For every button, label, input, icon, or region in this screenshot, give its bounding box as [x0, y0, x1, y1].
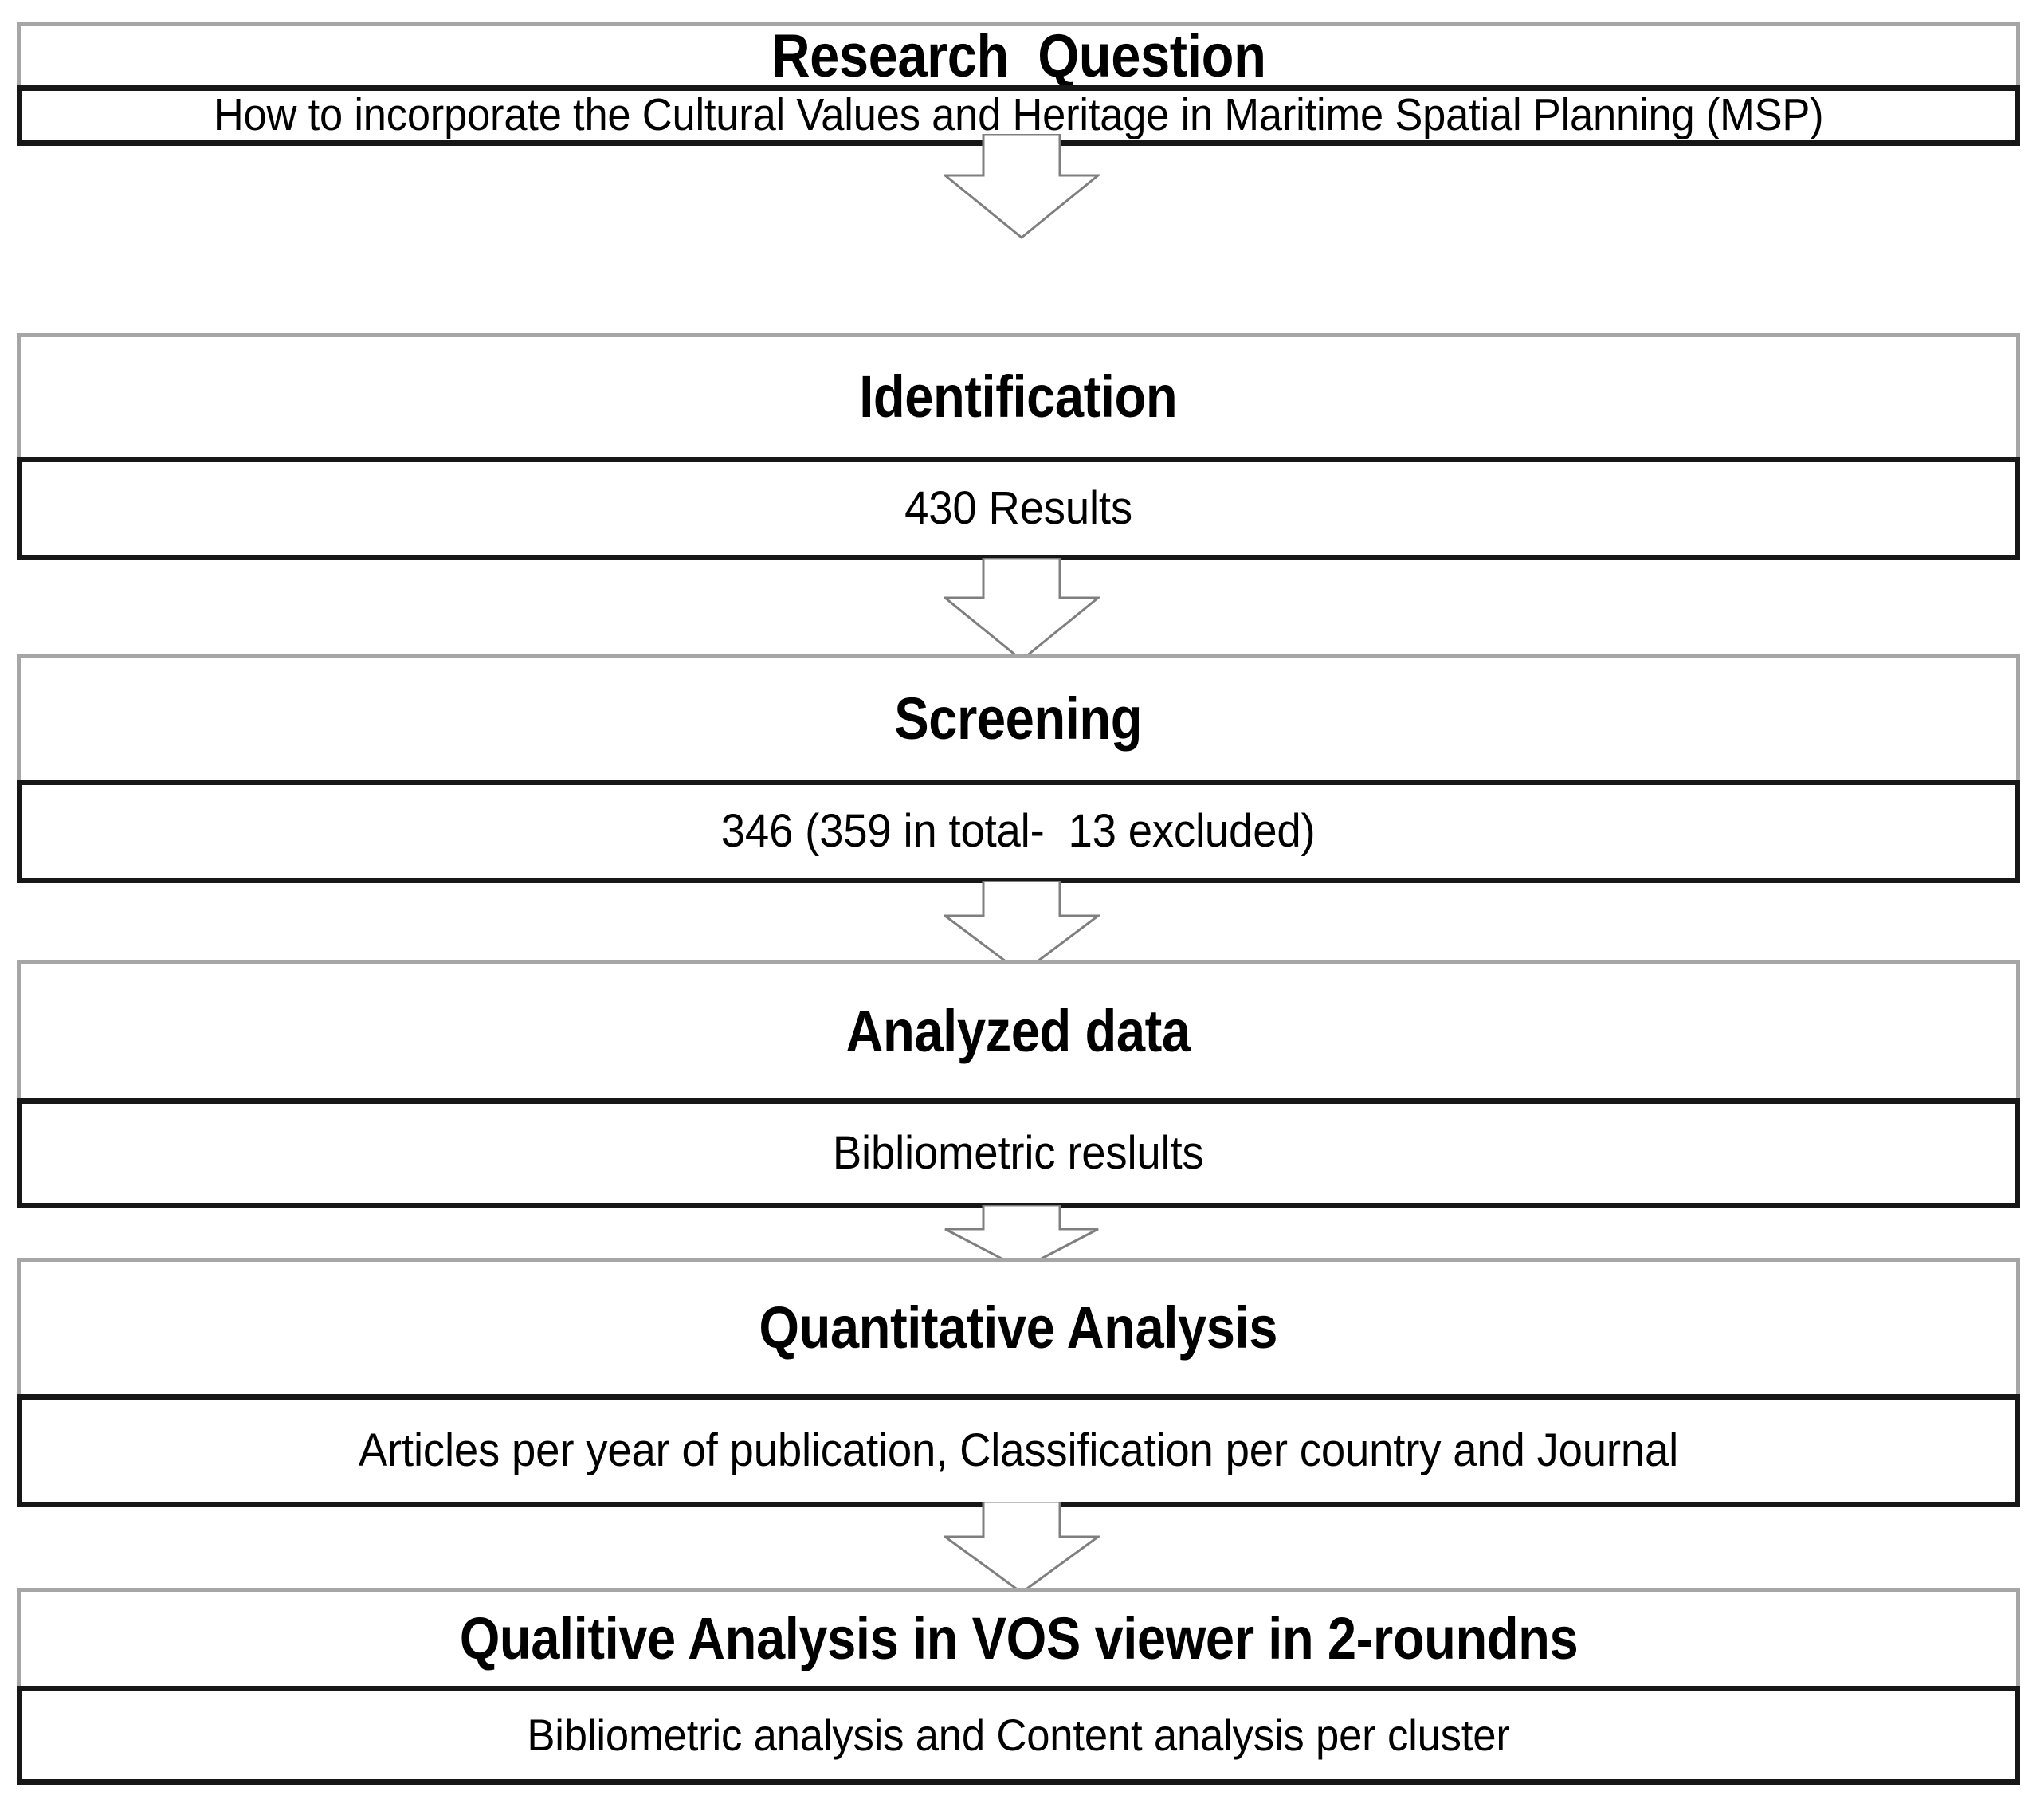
stage-analyzed-data: Analyzed data Bibliometric reslults [17, 960, 2020, 1208]
stage-body-text: How to incorporate the Cultural Values a… [214, 92, 1824, 139]
stage-body-text: 346 (359 in total- 13 excluded) [721, 807, 1316, 856]
arrow-quantitative-analysis-to-qualitive-analysis [944, 1502, 1100, 1594]
stage-title-text: Quantitative Analysis [759, 1297, 1278, 1359]
stage-title-text: Research Question [771, 25, 1265, 88]
stage-body-text: Bibliometric analysis and Content analys… [527, 1712, 1509, 1759]
stage-research-question: Research Question How to incorporate the… [17, 22, 2020, 135]
stage-title-text: Qualitive Analysis in VOS viewer in 2-ro… [459, 1608, 1578, 1670]
stage-body-box-quantitative-analysis: Articles per year of publication, Classi… [17, 1394, 2020, 1507]
stage-body-box-identification: 430 Results [17, 457, 2020, 560]
stage-body-text: Bibliometric reslults [833, 1129, 1204, 1178]
stage-title-box-qualitive-analysis: Qualitive Analysis in VOS viewer in 2-ro… [17, 1588, 2020, 1690]
stage-quantitative-analysis: Quantitative Analysis Articles per year … [17, 1258, 2020, 1506]
stage-title-box-research-question: Research Question [17, 22, 2020, 92]
stage-title-box-identification: Identification [17, 333, 2020, 461]
stage-body-box-qualitive-analysis: Bibliometric analysis and Content analys… [17, 1686, 2020, 1785]
stage-body-box-analyzed-data: Bibliometric reslults [17, 1098, 2020, 1208]
stage-body-box-screening: 346 (359 in total- 13 excluded) [17, 780, 2020, 883]
stage-title-text: Analyzed data [846, 1000, 1191, 1063]
stage-identification: Identification 430 Results [17, 333, 2020, 560]
stage-title-text: Identification [859, 366, 1177, 428]
stage-title-box-screening: Screening [17, 654, 2020, 784]
stage-qualitive-analysis: Qualitive Analysis in VOS viewer in 2-ro… [17, 1588, 2020, 1784]
arrow-research-question-to-identification [944, 134, 1100, 239]
stage-title-box-quantitative-analysis: Quantitative Analysis [17, 1258, 2020, 1398]
stage-body-text: 430 Results [904, 485, 1132, 533]
stage-title-box-analyzed-data: Analyzed data [17, 960, 2020, 1102]
stage-body-text: Articles per year of publication, Classi… [359, 1427, 1678, 1475]
stage-title-text: Screening [895, 688, 1143, 750]
arrow-identification-to-screening [944, 558, 1100, 662]
stage-screening: Screening 346 (359 in total- 13 excluded… [17, 654, 2020, 882]
research-methodology-flowchart: Research Question How to incorporate the… [0, 0, 2044, 1803]
